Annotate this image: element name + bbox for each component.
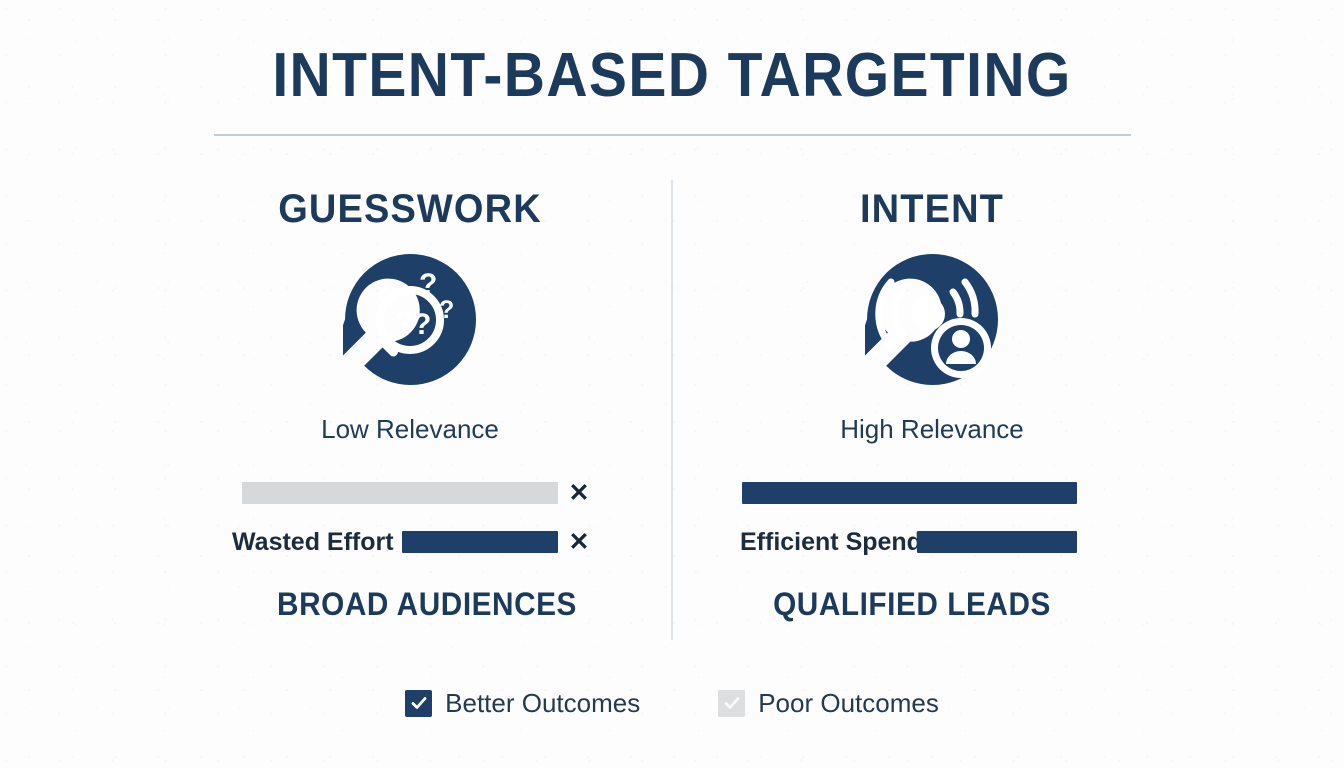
column-intent: INTENT High Relevance	[672, 185, 1192, 445]
legend-item-better-outcomes[interactable]: Better Outcomes	[405, 688, 640, 718]
column-heading-guesswork: GUESSWORK	[163, 185, 657, 233]
title-underline-rule	[214, 134, 1131, 136]
metric-bar-guesswork	[402, 531, 558, 553]
infographic-canvas: INTENT-BASED TARGETING GUESSWORK ? ?	[0, 0, 1344, 768]
column-caption-guesswork: BROAD AUDIENCES	[185, 584, 669, 624]
relevance-bar-guesswork	[242, 482, 558, 504]
metric-bar-intent	[917, 531, 1077, 553]
column-heading-intent: INTENT	[685, 185, 1179, 233]
svg-text:?: ?	[419, 268, 437, 301]
svg-text:?: ?	[413, 308, 431, 341]
metric-label-guesswork: Wasted Effort	[232, 528, 392, 556]
signal-person-icon	[672, 252, 1192, 387]
svg-text:?: ?	[395, 306, 413, 339]
checkmark-icon	[718, 690, 745, 717]
relevance-bar-row-intent	[742, 482, 1077, 504]
legend: Better Outcomes Poor Outcomes	[0, 688, 1344, 718]
page-title: INTENT-BASED TARGETING	[54, 40, 1290, 112]
legend-label-poor-outcomes: Poor Outcomes	[758, 688, 939, 718]
metric-bar-row-guesswork: Wasted Effort ✕	[232, 528, 590, 556]
x-mark-icon: ✕	[568, 482, 590, 504]
relevance-bar-intent	[742, 482, 1077, 504]
checkmark-icon	[405, 690, 432, 717]
column-guesswork: GUESSWORK ? ? ? ? ?	[150, 185, 670, 445]
relevance-label-intent: High Relevance	[672, 413, 1192, 445]
svg-text:?: ?	[439, 296, 454, 324]
column-caption-intent: QUALIFIED LEADS	[670, 584, 1154, 624]
relevance-label-guesswork: Low Relevance	[150, 413, 670, 445]
metric-label-intent: Efficient Spend	[740, 528, 907, 556]
magnifier-question-icon: ? ? ? ? ?	[150, 252, 670, 387]
legend-item-poor-outcomes[interactable]: Poor Outcomes	[718, 688, 939, 718]
legend-label-better-outcomes: Better Outcomes	[445, 688, 640, 718]
svg-text:?: ?	[373, 276, 390, 306]
relevance-bar-row-guesswork: ✕	[242, 482, 590, 504]
x-mark-icon: ✕	[568, 531, 590, 553]
metric-bar-row-intent: Efficient Spend	[740, 528, 1077, 556]
